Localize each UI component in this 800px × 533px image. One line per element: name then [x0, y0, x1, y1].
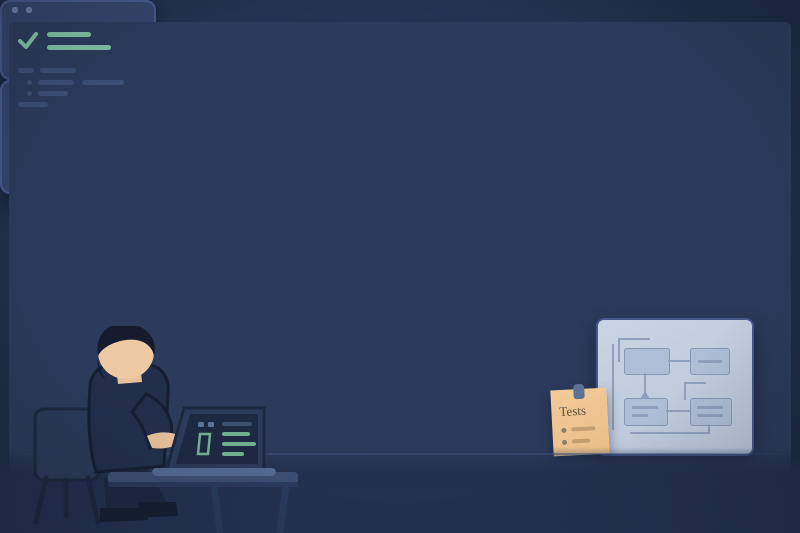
window-dot [12, 7, 18, 13]
checklist-bullet [561, 428, 566, 433]
check-mark-icon [17, 31, 39, 51]
developer-at-desk [28, 326, 298, 533]
code-line-dim [38, 91, 68, 96]
illustration-canvas: TDD Cycle [0, 0, 800, 533]
flow-box [690, 398, 732, 426]
flow-connector [618, 338, 650, 340]
code-line-dim [38, 80, 74, 85]
flow-connector [666, 410, 690, 412]
pin-icon [573, 384, 585, 400]
flow-box [624, 398, 668, 426]
window-body [9, 22, 791, 60]
flow-connector [630, 432, 708, 434]
sticky-note-title: Tests [559, 403, 586, 420]
flow-connector [684, 382, 706, 384]
code-line [47, 32, 91, 37]
flow-connector [612, 344, 614, 430]
checklist-line [572, 439, 590, 444]
code-line-dim [27, 91, 32, 96]
code-line-dim [40, 68, 76, 73]
code-line-dim [18, 102, 48, 107]
flow-box [690, 348, 730, 375]
code-line-dim [82, 80, 124, 85]
flow-arrow-icon [640, 390, 650, 400]
code-line-dim [18, 68, 34, 73]
checklist-line [571, 426, 595, 431]
code-line-dim [27, 80, 32, 85]
flow-connector [668, 360, 690, 362]
code-line [47, 45, 111, 50]
window-dot [26, 7, 32, 13]
flow-connector [708, 424, 710, 434]
flow-connector [684, 382, 686, 400]
flowchart-whiteboard[interactable] [596, 318, 754, 456]
window-titlebar [0, 0, 800, 19]
flow-box [624, 348, 670, 375]
checklist-bullet [562, 440, 567, 445]
flow-connector [618, 338, 620, 362]
